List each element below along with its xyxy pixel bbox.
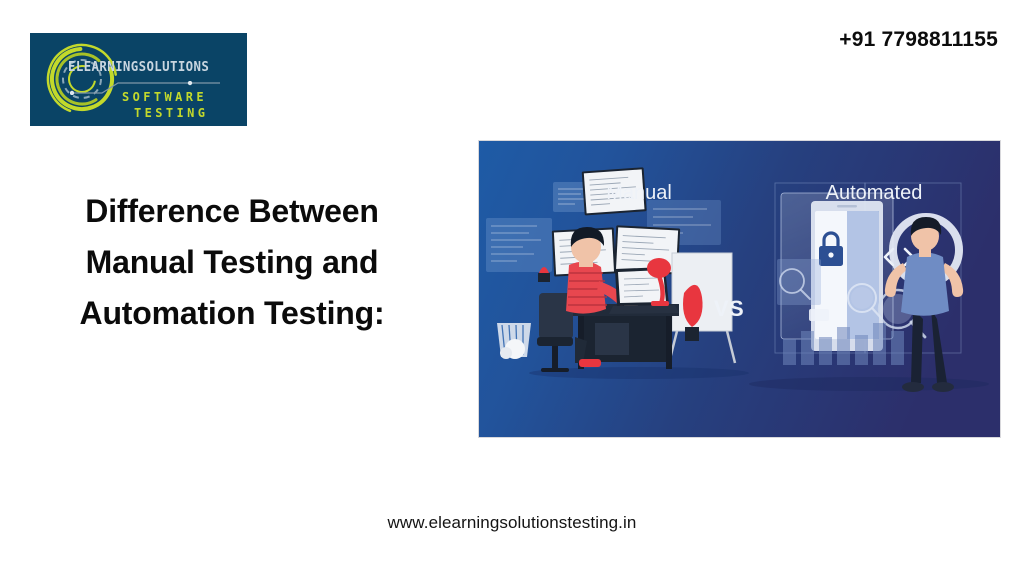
logo-text-group: ELEARNINGSOLUTIONS SOFTWARE TESTING (68, 59, 247, 121)
versus-label: VS (714, 296, 744, 321)
logo-company-name: ELEARNINGSOLUTIONS (68, 59, 209, 75)
illustration-canvas: VS (479, 141, 1000, 437)
logo-subtitle-testing: TESTING (134, 106, 208, 120)
page-title: Difference Between Manual Testing and Au… (32, 186, 432, 339)
company-logo: ELEARNINGSOLUTIONS SOFTWARE TESTING (30, 33, 247, 126)
manual-label: Manual (606, 182, 672, 204)
contact-phone-number: +91 7798811155 (839, 28, 998, 52)
manual-vs-automated-illustration: VS (478, 140, 1001, 438)
page-title-line-3: Automation Testing: (32, 288, 432, 339)
logo-subtitle-software: SOFTWARE (122, 90, 207, 104)
website-url: www.elearningsolutionstesting.in (0, 513, 1024, 533)
trash-bin (497, 323, 531, 359)
page-title-line-2: Manual Testing and (32, 237, 432, 288)
page-title-line-1: Difference Between (32, 186, 432, 237)
automated-label: Automated (826, 182, 923, 204)
